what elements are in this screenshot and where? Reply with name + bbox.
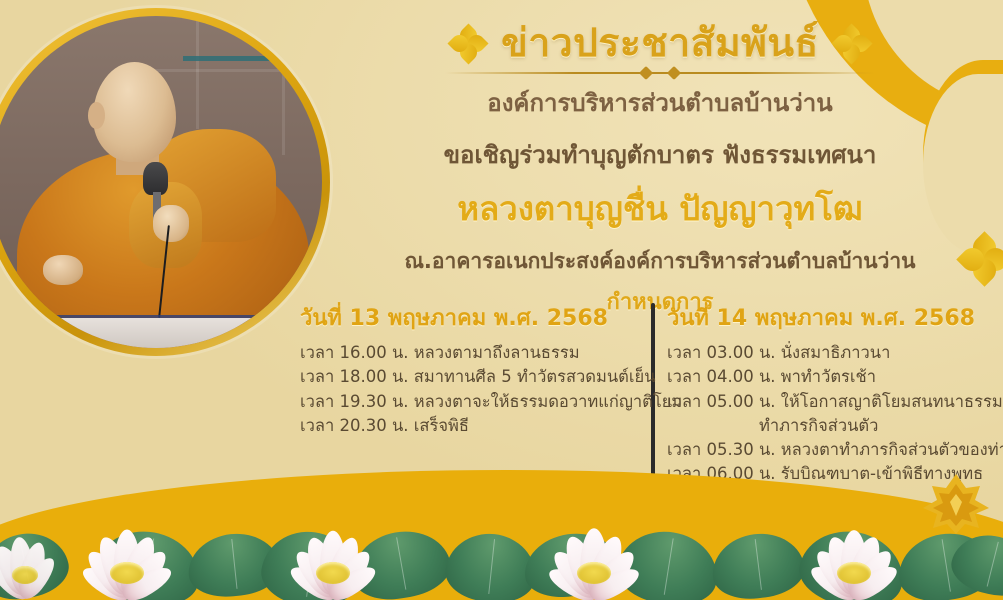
poster-canvas: ข่าวประชาสัมพันธ์ องค์การบริหารส่วนตำบลบ… <box>0 0 1003 600</box>
monk-ear <box>88 102 105 129</box>
event-activity: หลวงตาทำภารกิจส่วนตัวของท่าน <box>781 440 1003 459</box>
wall-trim <box>183 56 322 61</box>
monk-name: หลวงตาบุญชื่น ปัญญาวุทโฒ <box>330 182 990 235</box>
event-time: เวลา 05.30 น. <box>667 440 776 459</box>
event-time: เวลา 18.00 น. <box>300 367 409 386</box>
lotus-flower <box>790 506 918 600</box>
day1-heading: วันที่ 13 พฤษภาคม พ.ศ. 2568 <box>300 300 637 335</box>
title-row: ข่าวประชาสัมพันธ์ <box>330 22 990 66</box>
lotus-flower <box>0 520 80 600</box>
table-front <box>10 318 309 348</box>
wall-seam <box>196 16 199 129</box>
event-time: เวลา 04.00 น. <box>667 367 776 386</box>
header-block: ข่าวประชาสัมพันธ์ องค์การบริหารส่วนตำบลบ… <box>330 22 990 319</box>
monk-head <box>93 62 176 162</box>
event-time: เวลา 05.00 น. <box>667 392 776 411</box>
page-title: ข่าวประชาสัมพันธ์ <box>501 22 819 66</box>
event-activity: หลวงตาจะให้ธรรมดอวาทแก่ญาติโยม <box>414 392 683 411</box>
schedule-event: เวลา 16.00 น. หลวงตามาถึงลานธรรม <box>300 341 637 365</box>
lotus-flower <box>528 502 660 600</box>
event-activity: นั่งสมาธิภาวนา <box>781 343 891 362</box>
schedule-event: เวลา 05.00 น. ให้โอกาสญาติโยมสนทนาธรรมแล… <box>667 390 1000 439</box>
monk-photo <box>0 16 322 348</box>
schedule-event: เวลา 04.00 น. พาทำวัตรเช้า <box>667 365 1000 389</box>
event-activity: ให้โอกาสญาติโยมสนทนาธรรมและ <box>781 392 1003 411</box>
wall-seam <box>282 56 285 156</box>
four-petal-ornament-icon-right-edge <box>961 236 1003 282</box>
schedule-event: เวลา 05.30 น. หลวงตาทำภารกิจส่วนตัวของท่… <box>667 438 1000 462</box>
four-petal-ornament-icon-right <box>835 27 869 61</box>
event-time: เวลา 03.00 น. <box>667 343 776 362</box>
organization-name: องค์การบริหารส่วนตำบลบ้านว่าน <box>330 83 990 122</box>
lotus-flower <box>270 508 396 600</box>
day2-heading: วันที่ 14 พฤษภาคม พ.ศ. 2568 <box>667 300 1000 335</box>
four-petal-ornament-icon-left <box>451 27 485 61</box>
venue-line: ณ.อาคารอเนกประสงค์องค์การบริหารส่วนตำบลบ… <box>330 245 990 278</box>
lotus-decoration-strip <box>0 480 1003 600</box>
event-time: เวลา 20.30 น. <box>300 416 409 435</box>
microphone-icon <box>143 162 168 195</box>
schedule-event: เวลา 20.30 น. เสร็จพิธี <box>300 414 637 438</box>
event-continuation: ทำภารกิจส่วนตัว <box>667 414 1000 438</box>
event-activity: สมาทานศีล 5 ทำวัตรสวดมนต์เย็น <box>414 367 656 386</box>
title-divider-ornament <box>445 67 875 79</box>
monk-resting-hand <box>43 255 83 285</box>
event-activity: หลวงตามาถึงลานธรรม <box>414 343 580 362</box>
monk-photo-ring <box>0 8 330 356</box>
lotus-flower <box>62 504 192 600</box>
monk-hand-holding-mic <box>153 205 190 242</box>
event-time: เวลา 16.00 น. <box>300 343 409 362</box>
schedule-event: เวลา 03.00 น. นั่งสมาธิภาวนา <box>667 341 1000 365</box>
invitation-line: ขอเชิญร่วมทำบุญตักบาตร ฟังธรรมเทศนา <box>330 135 990 174</box>
thai-kranok-ornament-icon <box>919 472 993 536</box>
event-activity: เสร็จพิธี <box>414 416 469 435</box>
event-activity: พาทำวัตรเช้า <box>781 367 876 386</box>
day1-events: เวลา 16.00 น. หลวงตามาถึงลานธรรม เวลา 18… <box>300 341 637 438</box>
event-time: เวลา 19.30 น. <box>300 392 409 411</box>
schedule-event: เวลา 18.00 น. สมาทานศีล 5 ทำวัตรสวดมนต์เ… <box>300 365 637 389</box>
lotus-leaf <box>443 529 540 600</box>
schedule-event: เวลา 19.30 น. หลวงตาจะให้ธรรมดอวาทแก่ญาต… <box>300 390 637 414</box>
